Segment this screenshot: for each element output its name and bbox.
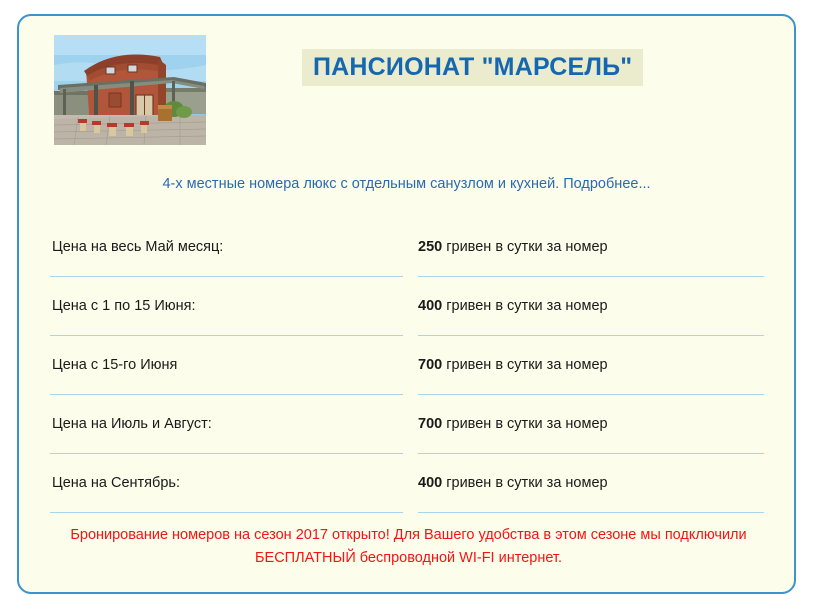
- rooms-description-link[interactable]: 4-х местные номера люкс с отдельным сану…: [19, 176, 794, 192]
- price-period-label: Цена с 15-го Июня: [50, 357, 403, 373]
- separator-gap: [403, 335, 418, 336]
- row-separator: [50, 335, 764, 336]
- row-separator: [50, 394, 764, 395]
- price-amount: 250: [418, 239, 442, 255]
- site-title-highlight: ПАНСИОНАТ "МАРСЕЛЬ": [302, 49, 643, 86]
- building-photo-image: [54, 35, 206, 145]
- separator-left: [50, 512, 403, 513]
- row-separator: [50, 453, 764, 454]
- separator-left: [50, 394, 403, 395]
- price-unit: гривен в сутки за номер: [442, 298, 607, 314]
- building-photo: [54, 35, 206, 145]
- price-value: 700 гривен в сутки за номер: [418, 416, 764, 432]
- separator-gap: [403, 276, 418, 277]
- price-unit: гривен в сутки за номер: [442, 239, 607, 255]
- separator-left: [50, 276, 403, 277]
- separator-gap: [403, 512, 418, 513]
- price-value: 400 гривен в сутки за номер: [418, 298, 764, 314]
- price-value: 250 гривен в сутки за номер: [418, 239, 764, 255]
- separator-gap: [403, 394, 418, 395]
- price-period-label: Цена на Сентябрь:: [50, 475, 403, 491]
- price-amount: 400: [418, 298, 442, 314]
- price-unit: гривен в сутки за номер: [442, 357, 607, 373]
- price-unit: гривен в сутки за номер: [442, 475, 607, 491]
- price-period-label: Цена с 1 по 15 Июня:: [50, 298, 403, 314]
- table-row: Цена с 1 по 15 Июня: 400 гривен в сутки …: [50, 277, 764, 335]
- separator-gap: [403, 453, 418, 454]
- price-period-label: Цена на весь Май месяц:: [50, 239, 403, 255]
- table-row: Цена на Сентябрь: 400 гривен в сутки за …: [50, 454, 764, 512]
- row-separator: [50, 512, 764, 513]
- booking-notice: Бронирование номеров на сезон 2017 откры…: [61, 524, 756, 570]
- price-value: 700 гривен в сутки за номер: [418, 357, 764, 373]
- price-unit: гривен в сутки за номер: [442, 416, 607, 432]
- page-header: ПАНСИОНАТ "МАРСЕЛЬ": [19, 16, 794, 156]
- table-row: Цена на весь Май месяц: 250 гривен в сут…: [50, 218, 764, 276]
- table-row: Цена с 15-го Июня 700 гривен в сутки за …: [50, 336, 764, 394]
- table-row: Цена на Июль и Август: 700 гривен в сутк…: [50, 395, 764, 453]
- separator-left: [50, 453, 403, 454]
- separator-right: [418, 394, 764, 395]
- separator-right: [418, 335, 764, 336]
- row-separator: [50, 276, 764, 277]
- price-value: 400 гривен в сутки за номер: [418, 475, 764, 491]
- separator-right: [418, 453, 764, 454]
- separator-right: [418, 276, 764, 277]
- price-table: Цена на весь Май месяц: 250 гривен в сут…: [50, 218, 764, 513]
- content-card: ПАНСИОНАТ "МАРСЕЛЬ" 4-х местные номера л…: [17, 14, 796, 594]
- separator-right: [418, 512, 764, 513]
- price-amount: 700: [418, 357, 442, 373]
- price-amount: 700: [418, 416, 442, 432]
- separator-left: [50, 335, 403, 336]
- price-period-label: Цена на Июль и Август:: [50, 416, 403, 432]
- price-amount: 400: [418, 475, 442, 491]
- page-title: ПАНСИОНАТ "МАРСЕЛЬ": [313, 54, 632, 80]
